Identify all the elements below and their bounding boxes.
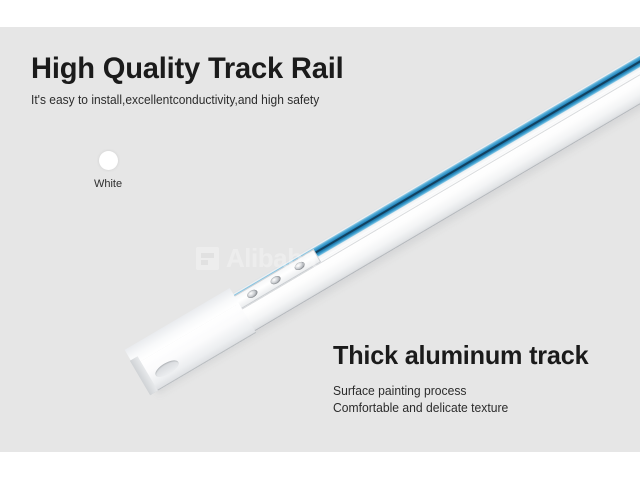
- feature-line: Comfortable and delicate texture: [333, 400, 614, 417]
- screw-hole-icon: [246, 288, 259, 300]
- feature-title: Thick aluminum track: [333, 340, 614, 371]
- feature-description: Surface painting process Comfortable and…: [333, 383, 614, 417]
- feature-caption-block: Thick aluminum track Surface painting pr…: [333, 340, 623, 417]
- color-option-white[interactable]: White: [80, 151, 136, 190]
- watermark-logo-icon: [196, 247, 219, 270]
- color-option-label: White: [80, 178, 136, 190]
- headline-block: High Quality Track Rail It's easy to ins…: [31, 53, 451, 107]
- product-banner: Alibaba High Quality Track Rail It's eas…: [0, 27, 640, 452]
- feature-line: Surface painting process: [333, 383, 614, 400]
- page-subtitle: It's easy to install,excellentconductivi…: [31, 93, 434, 107]
- image-canvas: Alibaba High Quality Track Rail It's eas…: [0, 0, 640, 480]
- screw-hole-icon: [293, 260, 306, 272]
- screw-hole-icon: [269, 274, 282, 286]
- page-title: High Quality Track Rail: [31, 53, 438, 85]
- color-swatch-circle[interactable]: [99, 151, 118, 170]
